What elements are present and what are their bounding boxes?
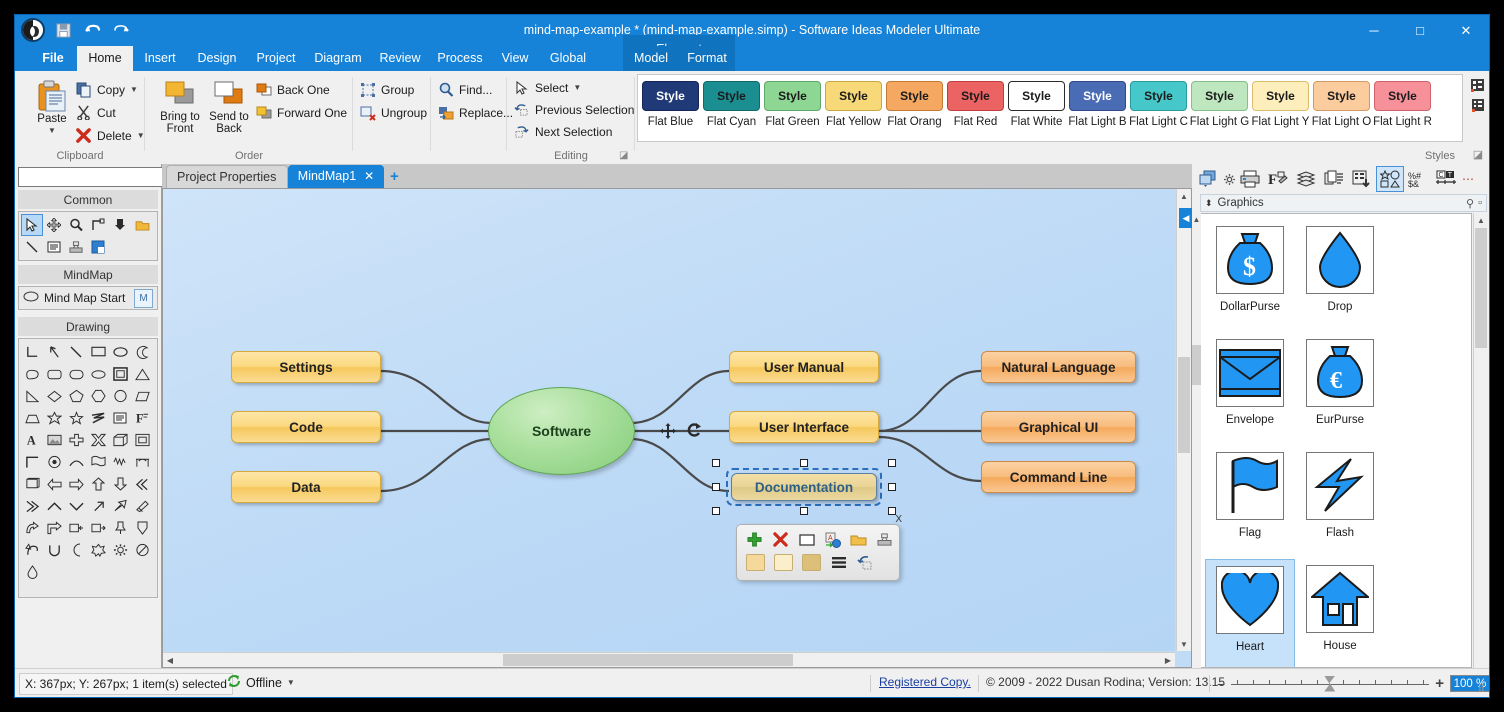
zoom-slider[interactable] xyxy=(1231,676,1429,692)
documents-icon[interactable] xyxy=(1320,166,1348,192)
lines-icon[interactable] xyxy=(830,554,847,571)
moon-icon[interactable] xyxy=(131,341,153,363)
nested-square-icon[interactable] xyxy=(131,429,153,451)
resize-handle-nw[interactable] xyxy=(712,459,720,467)
pen-icon[interactable] xyxy=(131,517,153,539)
stadium-icon[interactable] xyxy=(65,363,87,385)
cut-button[interactable]: Cut xyxy=(75,102,116,123)
tab-process[interactable]: Process xyxy=(429,46,491,71)
style-swatch: Style xyxy=(1008,81,1065,111)
ribbon-group-clipboard: Paste ▼ Copy ▼ Cut Delete xyxy=(15,71,145,164)
tab-insert[interactable]: Insert xyxy=(133,46,187,71)
connection-status[interactable]: Offline ▼ xyxy=(227,674,295,691)
node-label: Natural Language xyxy=(1001,360,1115,375)
next-selection-label: Next Selection xyxy=(535,125,612,139)
style-label: Flat Light Y xyxy=(1252,116,1310,128)
style-swatch: Style xyxy=(1374,81,1431,111)
graphics-item-flag[interactable]: Flag xyxy=(1205,446,1295,559)
panel-left-scroll-rail[interactable]: ▲ xyxy=(1192,213,1201,668)
copy-button[interactable]: Copy ▼ xyxy=(75,79,138,100)
tab-review[interactable]: Review xyxy=(371,46,429,71)
paste-label: Paste xyxy=(25,113,79,125)
toolbox-section-common[interactable]: Common xyxy=(18,190,158,209)
close-icon[interactable]: ✕ xyxy=(364,165,374,188)
document-tab-project-properties[interactable]: Project Properties xyxy=(166,165,288,188)
ribbon-group-order: Bring to Front Send to Back Back One xyxy=(145,71,353,164)
loop-icon[interactable] xyxy=(43,539,65,561)
replace-label: Replace... xyxy=(459,106,513,120)
pentagon-icon[interactable] xyxy=(65,385,87,407)
style-label: Flat Orang xyxy=(887,116,941,128)
triangle-icon[interactable] xyxy=(131,363,153,385)
tab-project[interactable]: Project xyxy=(247,46,305,71)
style-item-flat-yellow[interactable]: StyleFlat Yellow xyxy=(823,79,884,137)
previous-selection-label: Previous Selection xyxy=(535,103,634,117)
arrow-left-icon[interactable] xyxy=(43,473,65,495)
delete-button[interactable]: Delete ▼ xyxy=(75,125,145,146)
pin-icon[interactable] xyxy=(109,517,131,539)
line-icon[interactable] xyxy=(21,236,43,258)
node-context-toolbar[interactable]: X A xyxy=(736,524,900,581)
svg-text:$: $ xyxy=(1243,252,1256,281)
cross-icon[interactable] xyxy=(65,429,87,451)
canvas-container: Software Settings Code Data User Manual … xyxy=(162,188,1192,668)
graphics-item-label: EurPurse xyxy=(1316,414,1364,426)
cube-icon[interactable] xyxy=(109,429,131,451)
canvas-horizontal-scrollbar[interactable]: ◀ ▶ xyxy=(163,652,1175,667)
connection-label: Offline xyxy=(246,676,282,690)
mindmap-node-user-manual[interactable]: User Manual xyxy=(729,351,879,383)
tab-global[interactable]: Global xyxy=(539,46,597,71)
mindmap-canvas[interactable]: Software Settings Code Data User Manual … xyxy=(163,189,1175,651)
no-entry-icon[interactable] xyxy=(131,539,153,561)
envelope-icon xyxy=(1216,339,1284,407)
gear-icon[interactable] xyxy=(109,539,131,561)
mindmap-root-node[interactable]: Software xyxy=(488,387,635,475)
graphics-item-heart[interactable]: Heart xyxy=(1205,559,1295,668)
checklist-icon[interactable] xyxy=(1348,166,1376,192)
group-name-styles: Styles xyxy=(1215,150,1455,162)
resize-handle-ne[interactable] xyxy=(888,459,896,467)
color-swatch-2[interactable] xyxy=(774,554,793,571)
burst-icon[interactable] xyxy=(87,539,109,561)
application-window: mind-map-example * (mind-map-example.sim… xyxy=(14,14,1490,698)
style-label: Flat Blue xyxy=(648,116,693,128)
ungroup-label: Ungroup xyxy=(381,106,427,120)
svg-text:A: A xyxy=(26,434,35,447)
send-to-back-label-2: Back xyxy=(202,123,256,136)
image-icon[interactable] xyxy=(43,429,65,451)
target-icon[interactable] xyxy=(43,451,65,473)
graphics-item-house[interactable]: House xyxy=(1295,559,1385,668)
more-icon[interactable]: ⋯ xyxy=(1460,166,1476,192)
chevron-up-icon[interactable] xyxy=(43,495,65,517)
find-button[interactable]: Find... xyxy=(437,79,492,100)
graphics-panel-title: Graphics xyxy=(1218,197,1264,209)
arrow-solid-icon[interactable] xyxy=(131,495,153,517)
style-label: Flat Light G xyxy=(1190,116,1249,128)
paper-icon[interactable] xyxy=(21,473,43,495)
expander-icon[interactable]: ⬍ xyxy=(1205,198,1213,209)
style-label: Flat Cyan xyxy=(707,116,756,128)
letter-a-icon[interactable]: A xyxy=(21,429,43,451)
context-toolbar-close-button[interactable]: X xyxy=(895,514,902,525)
arrow-ne-icon[interactable] xyxy=(87,495,109,517)
style-item-flat-white[interactable]: StyleFlat White xyxy=(1006,79,1067,137)
scroll-up-icon[interactable]: ▲ xyxy=(1474,213,1488,227)
arrow-down-icon[interactable] xyxy=(109,473,131,495)
style-gallery[interactable]: StyleFlat BlueStyleFlat CyanStyleFlat Gr… xyxy=(637,74,1463,142)
previous-selection-button[interactable]: Previous Selection xyxy=(513,99,634,120)
panel-scroll-up-icon[interactable]: ▲ xyxy=(1192,213,1201,225)
parallelogram-icon[interactable] xyxy=(131,385,153,407)
registered-copy-link[interactable]: Registered Copy. xyxy=(879,675,971,689)
chevron-down-icon[interactable]: ▼ xyxy=(130,85,138,94)
graphics-scroll-thumb[interactable] xyxy=(1475,228,1487,348)
crescent-icon[interactable] xyxy=(65,539,87,561)
node-label: Data xyxy=(291,480,320,495)
canvas-vertical-scrollbar[interactable]: ▲ ▼ xyxy=(1176,189,1191,651)
rectangle-icon[interactable] xyxy=(798,531,815,548)
scroll-up-icon[interactable]: ▲ xyxy=(1177,189,1191,203)
paste-button[interactable]: Paste ▼ xyxy=(25,79,79,135)
graphics-item-envelope[interactable]: Envelope xyxy=(1205,333,1295,446)
bring-to-front-label-2: Front xyxy=(153,123,207,136)
bring-to-front-icon xyxy=(153,77,207,111)
chevron-down-icon[interactable]: ▼ xyxy=(25,126,79,135)
resize-handle-s[interactable] xyxy=(800,507,808,515)
chevron-down-icon[interactable] xyxy=(65,495,87,517)
x-shape-icon[interactable] xyxy=(87,429,109,451)
rectangle-icon[interactable] xyxy=(87,341,109,363)
arrow-right-icon[interactable] xyxy=(65,473,87,495)
arrow-bent-icon[interactable] xyxy=(109,495,131,517)
back-one-button[interactable]: Back One xyxy=(255,79,330,100)
lightning-icon[interactable] xyxy=(87,407,109,429)
arrow-corner-icon[interactable] xyxy=(43,517,65,539)
octagon-icon[interactable] xyxy=(109,385,131,407)
oval-icon[interactable] xyxy=(87,363,109,385)
document-area: Project Properties MindMap1 ✕ + xyxy=(162,164,1192,668)
bracket-icon[interactable] xyxy=(21,451,43,473)
scroll-down-icon[interactable]: ▼ xyxy=(1177,637,1191,651)
toolbox-search[interactable] xyxy=(18,167,158,187)
note-icon[interactable] xyxy=(850,531,867,548)
stamp-icon[interactable] xyxy=(876,531,893,548)
panel-collapse-button[interactable]: ◀ xyxy=(1179,208,1193,228)
toolbox-section-drawing[interactable]: Drawing xyxy=(18,317,158,336)
title-bar: mind-map-example * (mind-map-example.sim… xyxy=(15,15,1489,46)
svg-text:A: A xyxy=(828,535,833,542)
style-item-flat-green[interactable]: StyleFlat Green xyxy=(762,79,823,137)
tab-model[interactable]: Model xyxy=(623,46,679,71)
corner-icon[interactable] xyxy=(21,341,43,363)
copyright-text: © 2009 - 2022 Dusan Rodina; Version: 13.… xyxy=(986,675,1225,689)
svg-text:F: F xyxy=(135,412,142,425)
text-icon[interactable] xyxy=(43,236,65,258)
arrow-in-icon[interactable] xyxy=(65,517,87,539)
layers-icon[interactable] xyxy=(1292,166,1320,192)
resize-handle-sw[interactable] xyxy=(712,507,720,515)
ct-measure-icon[interactable]: CT xyxy=(1432,166,1460,192)
close-button[interactable]: ✕ xyxy=(1443,15,1489,46)
copy-label: Copy xyxy=(97,83,125,97)
vertical-scroll-thumb[interactable] xyxy=(1178,357,1190,453)
window-controls: ─ □ ✕ xyxy=(1351,15,1489,46)
diagram-browser-icon[interactable] xyxy=(1469,97,1487,115)
toolbox-panel: Common MindMap Mind Map Start M Drawing … xyxy=(15,164,162,668)
mindmap-node-graphical-ui[interactable]: Graphical UI xyxy=(981,411,1136,443)
resize-handle-e[interactable] xyxy=(888,483,896,491)
graphics-panel-header: ⬍ Graphics ⚲ ▫ xyxy=(1200,194,1487,212)
scribble-icon[interactable] xyxy=(109,451,131,473)
font-style-icon[interactable]: F xyxy=(1264,166,1292,192)
graphics-item-dollarpurse[interactable]: $DollarPurse xyxy=(1205,220,1295,333)
minimize-button[interactable]: ─ xyxy=(1351,15,1397,46)
tab-home[interactable]: Home xyxy=(77,46,133,71)
resize-grip-icon[interactable]: ⠿ xyxy=(1478,684,1485,695)
layers-stack-icon[interactable] xyxy=(1194,166,1222,192)
tab-view[interactable]: View xyxy=(491,46,539,71)
mindmap-node-documentation[interactable]: Documentation xyxy=(731,473,877,501)
move-icon[interactable] xyxy=(660,423,676,444)
graphics-item-label: Flag xyxy=(1239,527,1261,539)
editing-dialog-launcher[interactable]: ◪ xyxy=(619,150,631,162)
graphics-grid-container[interactable]: $DollarPurseDropEnvelope€EurPurseFlagFla… xyxy=(1200,213,1472,668)
euro-purse-icon: € xyxy=(1306,339,1374,407)
window-title: mind-map-example * (mind-map-example.sim… xyxy=(15,15,1489,46)
group-button[interactable]: Group xyxy=(359,79,414,100)
node-label: Documentation xyxy=(755,480,853,495)
status-coordinates: X: 367px; Y: 267px; 1 item(s) selected xyxy=(19,673,233,695)
star-icon[interactable] xyxy=(65,407,87,429)
graphics-item-label: Heart xyxy=(1236,641,1264,653)
graphics-panel: F %#$& CT ⋯ ⬍ Graphics xyxy=(1192,164,1489,668)
cut-icon xyxy=(75,104,92,121)
frame-icon[interactable] xyxy=(109,363,131,385)
style-swatch: Style xyxy=(642,81,699,111)
mind-map-start-shortcut: M xyxy=(134,289,153,308)
style-item-flat-light-y[interactable]: StyleFlat Light Y xyxy=(1250,79,1311,137)
flag-icon[interactable] xyxy=(87,451,109,473)
graphics-vertical-scrollbar[interactable]: ▲ xyxy=(1473,213,1488,668)
pointer-icon[interactable] xyxy=(21,214,43,236)
undo-arc-icon[interactable] xyxy=(21,539,43,561)
chevron-down-icon[interactable]: ▼ xyxy=(287,678,295,687)
model-browser-icon[interactable] xyxy=(1469,77,1487,95)
graphics-item-eurpurse[interactable]: €EurPurse xyxy=(1295,333,1385,446)
pin-icon[interactable]: ⚲ xyxy=(1466,197,1474,210)
sync-icon xyxy=(227,674,241,691)
style-swatch: Style xyxy=(1191,81,1248,111)
style-label: Flat Green xyxy=(765,116,819,128)
change-type-icon[interactable]: A xyxy=(824,531,841,548)
horizontal-scroll-thumb[interactable] xyxy=(503,654,793,666)
trapezoid-icon[interactable] xyxy=(21,407,43,429)
flash-icon xyxy=(1306,452,1374,520)
formatted-text-icon[interactable]: F xyxy=(131,407,153,429)
style-item-flat-orang[interactable]: StyleFlat Orang xyxy=(884,79,945,137)
arrow-curve-icon[interactable] xyxy=(21,517,43,539)
ribbon-group-editing: Select ▼ Previous Selection Next Selecti… xyxy=(507,71,635,164)
mindmap-node-natural-language[interactable]: Natural Language xyxy=(981,351,1136,383)
style-item-flat-red[interactable]: StyleFlat Red xyxy=(945,79,1006,137)
context-toolbar-row-1: A xyxy=(746,531,893,548)
drop-icon[interactable] xyxy=(21,561,43,583)
style-item-flat-cyan[interactable]: StyleFlat Cyan xyxy=(701,79,762,137)
mindmap-node-code[interactable]: Code xyxy=(231,411,381,443)
next-selection-button[interactable]: Next Selection xyxy=(513,121,612,142)
node-label: Settings xyxy=(279,360,332,375)
move-icon[interactable] xyxy=(43,214,65,236)
cut-label: Cut xyxy=(97,106,116,120)
context-toolbar-row-2 xyxy=(746,554,873,571)
tab-file[interactable]: File xyxy=(29,46,77,71)
resize-handle-n[interactable] xyxy=(800,459,808,467)
node-label: Command Line xyxy=(1010,470,1108,485)
style-item-flat-blue[interactable]: StyleFlat Blue xyxy=(640,79,701,137)
rounded-rect-icon[interactable] xyxy=(43,363,65,385)
arc-icon[interactable] xyxy=(65,451,87,473)
style-label: Flat Light B xyxy=(1068,116,1126,128)
scroll-left-icon[interactable]: ◀ xyxy=(163,653,177,667)
group-icon xyxy=(359,81,376,98)
scroll-right-icon[interactable]: ▶ xyxy=(1161,653,1175,667)
copy-icon xyxy=(75,81,92,98)
color-swatch-1[interactable] xyxy=(746,554,765,571)
style-swatch: Style xyxy=(825,81,882,111)
graphics-item-flash[interactable]: Flash xyxy=(1295,446,1385,559)
forward-one-button[interactable]: Forward One xyxy=(255,102,347,123)
replace-icon xyxy=(437,104,454,121)
group-label: Group xyxy=(381,83,414,97)
style-item-flat-light-c[interactable]: StyleFlat Light C xyxy=(1128,79,1189,137)
heart-icon xyxy=(1216,566,1284,634)
bring-to-front-button[interactable]: Bring to Front xyxy=(153,77,207,136)
import-icon[interactable] xyxy=(109,214,131,236)
graphics-item-label: House xyxy=(1323,640,1356,652)
style-item-flat-light-o[interactable]: StyleFlat Light O xyxy=(1311,79,1372,137)
stamp-icon[interactable] xyxy=(65,236,87,258)
printer-icon[interactable] xyxy=(1236,166,1264,192)
ungroup-button[interactable]: Ungroup xyxy=(359,102,427,123)
mindmap-node-command-line[interactable]: Command Line xyxy=(981,461,1136,493)
back-one-icon xyxy=(255,81,272,98)
find-icon xyxy=(437,81,454,98)
node-label: Graphical UI xyxy=(1019,420,1099,435)
chevrons-left-icon[interactable] xyxy=(131,473,153,495)
document-tab-mindmap1[interactable]: MindMap1 ✕ xyxy=(288,165,384,188)
style-item-flat-light-r[interactable]: StyleFlat Light R xyxy=(1372,79,1433,137)
chevron-down-icon[interactable]: ▼ xyxy=(573,83,581,92)
send-to-back-button[interactable]: Send to Back xyxy=(202,77,256,136)
style-item-flat-light-b[interactable]: StyleFlat Light B xyxy=(1067,79,1128,137)
line-icon[interactable] xyxy=(65,341,87,363)
maximize-icon[interactable]: ▫ xyxy=(1478,197,1482,210)
style-swatch: Style xyxy=(886,81,943,111)
shapes-icon[interactable] xyxy=(1376,166,1404,192)
blob-icon[interactable] xyxy=(21,363,43,385)
graphics-item-label: Drop xyxy=(1328,301,1353,313)
style-swatch: Style xyxy=(764,81,821,111)
graphics-item-drop[interactable]: Drop xyxy=(1295,220,1385,333)
right-triangle-icon[interactable] xyxy=(21,385,43,407)
select-button[interactable]: Select ▼ xyxy=(513,77,581,98)
delete-icon[interactable] xyxy=(772,531,789,548)
maximize-button[interactable]: □ xyxy=(1397,15,1443,46)
back-one-label: Back One xyxy=(277,83,330,97)
tab-diagram[interactable]: Diagram xyxy=(305,46,371,71)
ribbon-collapse-icon[interactable]: ◪ xyxy=(1469,145,1487,163)
connector-icon[interactable] xyxy=(87,214,109,236)
node-label: User Interface xyxy=(759,420,849,435)
chevron-right-icon[interactable] xyxy=(21,495,43,517)
banner-icon[interactable] xyxy=(43,407,65,429)
ribbon-group-styles: StyleFlat BlueStyleFlat CyanStyleFlat Gr… xyxy=(635,71,1475,164)
mindmap-node-settings[interactable]: Settings xyxy=(231,351,381,383)
style-swatch: Style xyxy=(1069,81,1126,111)
svg-text:T: T xyxy=(1448,172,1453,179)
tab-format[interactable]: Format xyxy=(679,46,735,71)
new-tab-button[interactable]: + xyxy=(390,168,399,185)
style-item-flat-light-g[interactable]: StyleFlat Light G xyxy=(1189,79,1250,137)
text-icon[interactable] xyxy=(109,407,131,429)
graphics-item-label: DollarPurse xyxy=(1220,301,1280,313)
ellipse-icon[interactable] xyxy=(109,341,131,363)
zoom-in-button[interactable]: + xyxy=(1435,675,1444,692)
toolbox-section-mindmap[interactable]: MindMap xyxy=(18,265,158,284)
bridge-icon[interactable] xyxy=(131,451,153,473)
rotate-icon[interactable] xyxy=(686,421,704,444)
note-icon[interactable] xyxy=(131,214,153,236)
style-label: Flat Red xyxy=(954,116,997,128)
ribbon-group-find: Find... Replace... xyxy=(431,71,507,164)
reset-style-icon[interactable] xyxy=(856,554,873,571)
toolbox-common-tools xyxy=(18,211,158,261)
forward-one-label: Forward One xyxy=(277,106,347,120)
toolbox-search-input[interactable] xyxy=(18,167,181,187)
diamond-icon[interactable] xyxy=(43,385,65,407)
toolbox-drawing-tools: FA xyxy=(18,338,158,598)
symbols-icon[interactable]: %#$& xyxy=(1404,166,1432,192)
document-tab-label: MindMap1 xyxy=(298,165,356,188)
hexagon-icon[interactable] xyxy=(87,385,109,407)
page-icon[interactable] xyxy=(87,236,109,258)
svg-text:€: € xyxy=(1330,368,1342,394)
arrow-out-icon[interactable] xyxy=(87,517,109,539)
zoom-out-button[interactable]: − xyxy=(1217,676,1225,692)
panel-scroll-thumb[interactable] xyxy=(1192,345,1201,385)
color-swatch-3[interactable] xyxy=(802,554,821,571)
settings-gear-icon[interactable] xyxy=(1222,166,1236,192)
pointer-icon xyxy=(513,79,530,96)
resize-handle-w[interactable] xyxy=(712,483,720,491)
document-tab-strip: Project Properties MindMap1 ✕ + xyxy=(162,164,1192,188)
style-label: Flat Light C xyxy=(1129,116,1188,128)
previous-selection-icon xyxy=(513,101,530,118)
mindmap-node-user-interface[interactable]: User Interface xyxy=(729,411,879,443)
select-label: Select xyxy=(535,81,568,95)
toolbox-item-mind-map-start[interactable]: Mind Map Start M xyxy=(18,286,158,310)
tab-design[interactable]: Design xyxy=(187,46,247,71)
status-bar: X: 367px; Y: 267px; 1 item(s) selected O… xyxy=(15,668,1489,697)
arrow-icon[interactable] xyxy=(43,341,65,363)
zoom-icon[interactable] xyxy=(65,214,87,236)
mindmap-node-data[interactable]: Data xyxy=(231,471,381,503)
replace-button[interactable]: Replace... xyxy=(437,102,513,123)
arrow-up-icon[interactable] xyxy=(87,473,109,495)
add-icon[interactable] xyxy=(746,531,763,548)
